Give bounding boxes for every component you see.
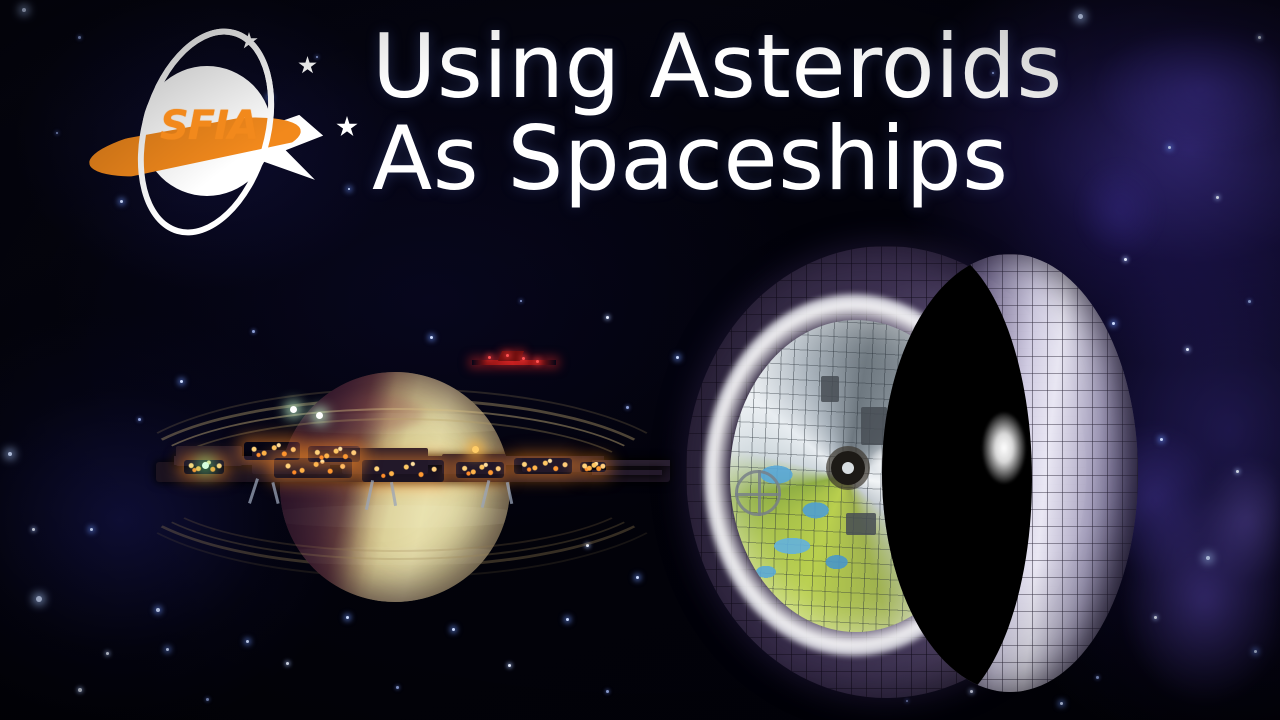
red-patrol-ship <box>466 348 562 376</box>
station-lights-5 <box>456 462 504 478</box>
orbital-station <box>156 438 670 508</box>
station-lights-7 <box>580 462 606 472</box>
station-beacon-white-2 <box>316 412 323 419</box>
station-lights-4 <box>362 460 444 482</box>
habitat-specular-highlight <box>982 412 1026 484</box>
page-title: Using Asteroids As Spaceships <box>372 24 1222 202</box>
oneill-habitat <box>686 246 1138 704</box>
logo-text: SFIA <box>140 106 278 146</box>
habitat-docking-wheel <box>735 470 781 516</box>
habitat-central-hub <box>831 451 865 485</box>
station-lights-6 <box>514 458 572 474</box>
thumbnail-canvas: SFIA Using Asteroids As Spaceships <box>0 0 1280 720</box>
station-beacon-white-1 <box>290 406 297 413</box>
sfia-logo: SFIA <box>96 20 316 245</box>
title-line-1: Using Asteroids <box>372 15 1063 118</box>
title-line-2: As Spaceships <box>372 116 1222 202</box>
red-ship-fin <box>498 351 524 361</box>
station-lights-3 <box>308 446 360 462</box>
gas-giant-scene <box>120 330 680 630</box>
station-beacon-green <box>202 462 209 469</box>
station-beacon-amber <box>472 446 479 453</box>
